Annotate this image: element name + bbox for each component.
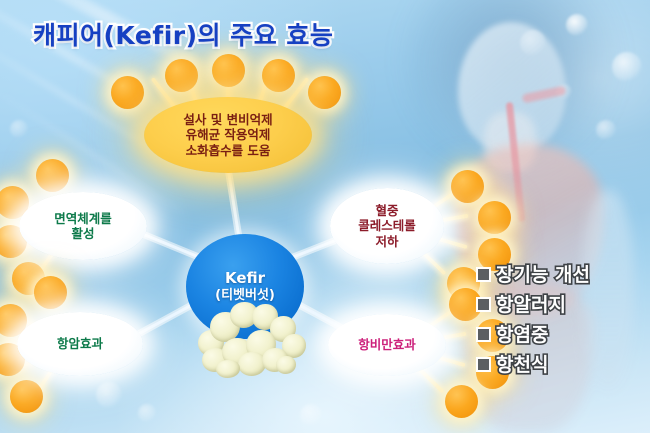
benefit-line: 항암효과 bbox=[57, 336, 103, 351]
center-node-title: Kefir bbox=[215, 269, 275, 287]
accent-dot bbox=[34, 276, 67, 309]
accent-dot bbox=[36, 159, 69, 192]
benefit-line: 설사 및 변비억제 bbox=[183, 112, 272, 127]
page-title: 캐피어(Kefir)의 주요 효능 bbox=[33, 16, 333, 52]
list-item[interactable]: 항알러지 bbox=[478, 288, 648, 318]
benefit-node-anticancer[interactable]: 항암효과 bbox=[17, 312, 143, 376]
kefir-grains-image bbox=[196, 300, 308, 378]
benefit-node-digestion[interactable]: 설사 및 변비억제 유해균 작용억제 소화흡수를 도움 bbox=[144, 97, 312, 173]
accent-dot bbox=[445, 385, 478, 418]
bullet-square-icon bbox=[478, 269, 489, 280]
bullet-square-icon bbox=[478, 359, 489, 370]
bullet-square-icon bbox=[478, 329, 489, 340]
benefit-line: 콜레스테롤 bbox=[358, 218, 416, 233]
accent-dot bbox=[212, 54, 245, 87]
benefit-node-cholesterol-text: 혈중 콜레스테롤 저하 bbox=[358, 203, 416, 249]
accent-dot bbox=[308, 76, 341, 109]
benefit-node-anticancer-text: 항암효과 bbox=[57, 336, 103, 351]
accent-dot bbox=[10, 380, 43, 413]
accent-dot bbox=[111, 76, 144, 109]
list-item[interactable]: 항염중 bbox=[478, 318, 648, 348]
bullet-square-icon bbox=[478, 299, 489, 310]
center-node-text: Kefir (티벳버섯) bbox=[215, 269, 275, 303]
accent-dot bbox=[262, 59, 295, 92]
accent-dot bbox=[451, 170, 484, 203]
benefit-bullet-list: 장기능 개선 항알러지 항염중 항천식 bbox=[478, 258, 648, 378]
benefit-line: 유해균 작용억제 bbox=[183, 127, 272, 142]
accent-dot bbox=[478, 201, 511, 234]
benefit-node-digestion-text: 설사 및 변비억제 유해균 작용억제 소화흡수를 도움 bbox=[183, 112, 272, 158]
benefit-line: 활성 bbox=[54, 226, 112, 241]
benefit-node-cholesterol[interactable]: 혈중 콜레스테롤 저하 bbox=[330, 188, 444, 264]
benefit-line: 항비만효과 bbox=[358, 337, 416, 352]
benefit-node-immunity-text: 면역체계를 활성 bbox=[54, 211, 112, 242]
list-item[interactable]: 항천식 bbox=[478, 348, 648, 378]
benefit-line: 면역체계를 bbox=[54, 211, 112, 226]
list-item-label: 장기능 개선 bbox=[496, 260, 590, 287]
benefit-line: 저하 bbox=[358, 234, 416, 249]
list-item-label: 항알러지 bbox=[496, 290, 566, 317]
benefit-line: 소화흡수를 도움 bbox=[183, 143, 272, 158]
accent-dot bbox=[165, 59, 198, 92]
benefit-line: 혈중 bbox=[358, 203, 416, 218]
infographic-canvas: 설사 및 변비억제 유해균 작용억제 소화흡수를 도움 면역체계를 활성 bbox=[0, 0, 650, 433]
list-item-label: 항천식 bbox=[496, 350, 548, 377]
benefit-node-antiobesity-text: 항비만효과 bbox=[358, 337, 416, 352]
list-item[interactable]: 장기능 개선 bbox=[478, 258, 648, 288]
benefit-node-antiobesity[interactable]: 항비만효과 bbox=[328, 314, 446, 376]
list-item-label: 항염중 bbox=[496, 320, 548, 347]
benefit-node-immunity[interactable]: 면역체계를 활성 bbox=[19, 192, 147, 260]
